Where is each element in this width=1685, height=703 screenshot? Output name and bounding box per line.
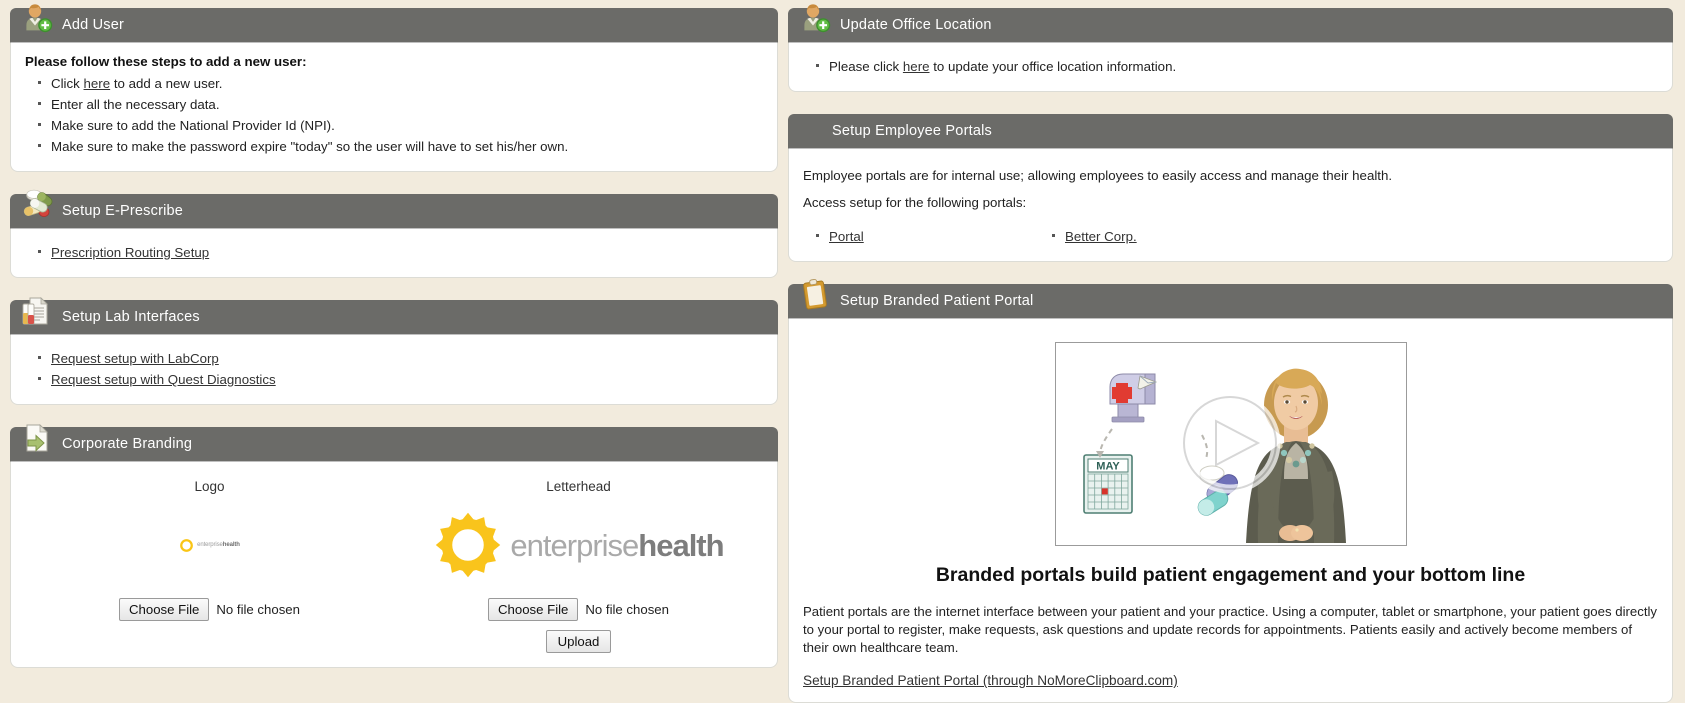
panel-title: Add User: [62, 17, 124, 33]
panel-setup-employee-portals-body: Employee portals are for internal use; a…: [788, 148, 1673, 262]
step-text-after: to add a new user.: [110, 76, 222, 91]
clipboard-icon: [798, 278, 832, 312]
list-item: Request setup with LabCorp: [51, 348, 763, 369]
office-text-after: to update your office location informati…: [930, 59, 1177, 74]
employee-portals-links: Portal Better Corp.: [803, 222, 1658, 247]
letterhead-choose-file-button[interactable]: Choose File: [488, 598, 578, 621]
panel-setup-branded-patient-portal-body: MAY: [788, 318, 1673, 703]
logo-wordmark-light: enterprise: [197, 542, 223, 548]
right-column: Update Office Location Please click here…: [788, 8, 1685, 692]
branding-grid: Logo enterprisehealth: [25, 471, 763, 653]
panel-title: Corporate Branding: [62, 436, 192, 452]
list-item: Make sure to add the National Provider I…: [51, 115, 763, 136]
panel-title: Setup Lab Interfaces: [62, 309, 200, 325]
upload-button[interactable]: Upload: [546, 630, 612, 653]
panel-title: Setup E-Prescribe: [62, 203, 183, 219]
add-user-steps: Click here to add a new user. Enter all …: [25, 73, 763, 157]
logo-choose-file-button[interactable]: Choose File: [119, 598, 209, 621]
portal-col-2: Better Corp.: [1039, 226, 1275, 247]
logo-file-row: Choose File No file chosen: [25, 598, 394, 621]
pills-icon: [20, 188, 54, 222]
letterhead-label: Letterhead: [394, 479, 763, 494]
list-item: Please click here to update your office …: [829, 56, 1658, 77]
add-user-lead: Please follow these steps to add a new u…: [25, 54, 763, 69]
enterprisehealth-logo-large: enterprisehealth: [433, 510, 723, 580]
panel-setup-employee-portals: Setup Employee Portals Employee portals …: [788, 114, 1673, 262]
panel-setup-eprescribe-body: Prescription Routing Setup: [10, 228, 778, 278]
labcorp-setup-link[interactable]: Request setup with LabCorp: [51, 351, 219, 366]
branded-portal-body: Patient portals are the internet interfa…: [803, 603, 1658, 657]
step-text: Enter all the necessary data.: [51, 97, 220, 112]
lab-interfaces-links: Request setup with LabCorp Request setup…: [25, 348, 763, 390]
calendar-month-label: MAY: [1096, 461, 1120, 473]
green-arrow-page-icon: [20, 421, 54, 455]
employee-portals-intro: Employee portals are for internal use; a…: [803, 166, 1658, 185]
panel-title: Update Office Location: [840, 17, 992, 33]
sunburst-icon: [433, 510, 503, 580]
panel-setup-branded-patient-portal-header: Setup Branded Patient Portal: [788, 284, 1673, 318]
portal-link[interactable]: Portal: [829, 229, 864, 244]
office-text-before: Please click: [829, 59, 903, 74]
logo-file-name: No file chosen: [216, 602, 300, 617]
letterhead-preview: enterprisehealth: [394, 508, 763, 582]
panel-add-user: Add User Please follow these steps to ad…: [10, 8, 778, 172]
lab-document-icon: [20, 294, 54, 328]
user-add-icon: [798, 2, 832, 36]
quest-diagnostics-setup-link[interactable]: Request setup with Quest Diagnostics: [51, 372, 276, 387]
better-corp-link[interactable]: Better Corp.: [1065, 229, 1137, 244]
video-thumbnail-art: MAY: [1056, 343, 1404, 543]
setup-branded-patient-portal-link[interactable]: Setup Branded Patient Portal (through No…: [803, 673, 1178, 688]
logo-wordmark-bold: health: [223, 542, 240, 548]
letterhead-wordmark-light: enterprise: [510, 528, 638, 563]
list-item: Request setup with Quest Diagnostics: [51, 369, 763, 390]
panel-setup-lab-interfaces-body: Request setup with LabCorp Request setup…: [10, 334, 778, 405]
user-add-icon: [20, 2, 54, 36]
logo-cell: Logo enterprisehealth: [25, 479, 394, 653]
panel-update-office-location-body: Please click here to update your office …: [788, 42, 1673, 92]
eprescribe-links: Prescription Routing Setup: [25, 242, 763, 263]
panel-add-user-body: Please follow these steps to add a new u…: [10, 42, 778, 172]
office-location-here-link[interactable]: here: [903, 59, 930, 74]
panel-title: Setup Branded Patient Portal: [840, 293, 1033, 309]
enterprisehealth-logo-small: enterprisehealth: [179, 538, 240, 553]
logo-label: Logo: [25, 479, 394, 494]
panel-corporate-branding: Corporate Branding Logo enterprisehea: [10, 427, 778, 668]
step-text: Make sure to make the password expire "t…: [51, 139, 568, 154]
list-item: Make sure to make the password expire "t…: [51, 136, 763, 157]
letterhead-file-row: Choose File No file chosen: [394, 598, 763, 621]
panel-setup-branded-patient-portal: Setup Branded Patient Portal: [788, 284, 1673, 703]
panel-update-office-location: Update Office Location Please click here…: [788, 8, 1673, 92]
panel-title: Setup Employee Portals: [832, 123, 992, 139]
panel-setup-lab-interfaces: Setup Lab Interfaces Request setup with …: [10, 300, 778, 405]
letterhead-file-name: No file chosen: [585, 602, 669, 617]
list-item: Enter all the necessary data.: [51, 94, 763, 115]
letterhead-cell: Letterhead: [394, 479, 763, 653]
add-user-here-link[interactable]: here: [84, 76, 111, 91]
left-column: Add User Please follow these steps to ad…: [0, 8, 788, 692]
upload-row: Upload: [394, 630, 763, 653]
logo-preview: enterprisehealth: [25, 508, 394, 582]
panel-setup-eprescribe: Setup E-Prescribe Prescription Routing S…: [10, 194, 778, 278]
panel-setup-lab-interfaces-header: Setup Lab Interfaces: [10, 300, 778, 334]
patient-portal-video-thumbnail[interactable]: MAY: [1055, 342, 1407, 546]
list-item: Better Corp.: [1065, 226, 1275, 247]
panel-add-user-header: Add User: [10, 8, 778, 42]
branded-portal-headline: Branded portals build patient engagement…: [803, 564, 1658, 587]
list-item: Click here to add a new user.: [51, 73, 763, 94]
office-location-list: Please click here to update your office …: [803, 56, 1658, 77]
step-text: Make sure to add the National Provider I…: [51, 118, 335, 133]
prescription-routing-setup-link[interactable]: Prescription Routing Setup: [51, 245, 209, 260]
panel-update-office-location-header: Update Office Location: [788, 8, 1673, 42]
list-item: Prescription Routing Setup: [51, 242, 763, 263]
page-root: Add User Please follow these steps to ad…: [0, 0, 1685, 692]
panel-corporate-branding-header: Corporate Branding: [10, 427, 778, 461]
panel-setup-employee-portals-header: Setup Employee Portals: [788, 114, 1673, 148]
panel-setup-eprescribe-header: Setup E-Prescribe: [10, 194, 778, 228]
employee-portals-access-text: Access setup for the following portals:: [803, 193, 1658, 212]
list-item: Portal: [829, 226, 1039, 247]
portal-col-1: Portal: [803, 226, 1039, 247]
letterhead-wordmark-bold: health: [638, 528, 723, 563]
panel-corporate-branding-body: Logo enterprisehealth: [10, 461, 778, 668]
sunburst-icon: [179, 538, 194, 553]
video-wrapper: MAY: [803, 342, 1658, 546]
step-text-before: Click: [51, 76, 84, 91]
